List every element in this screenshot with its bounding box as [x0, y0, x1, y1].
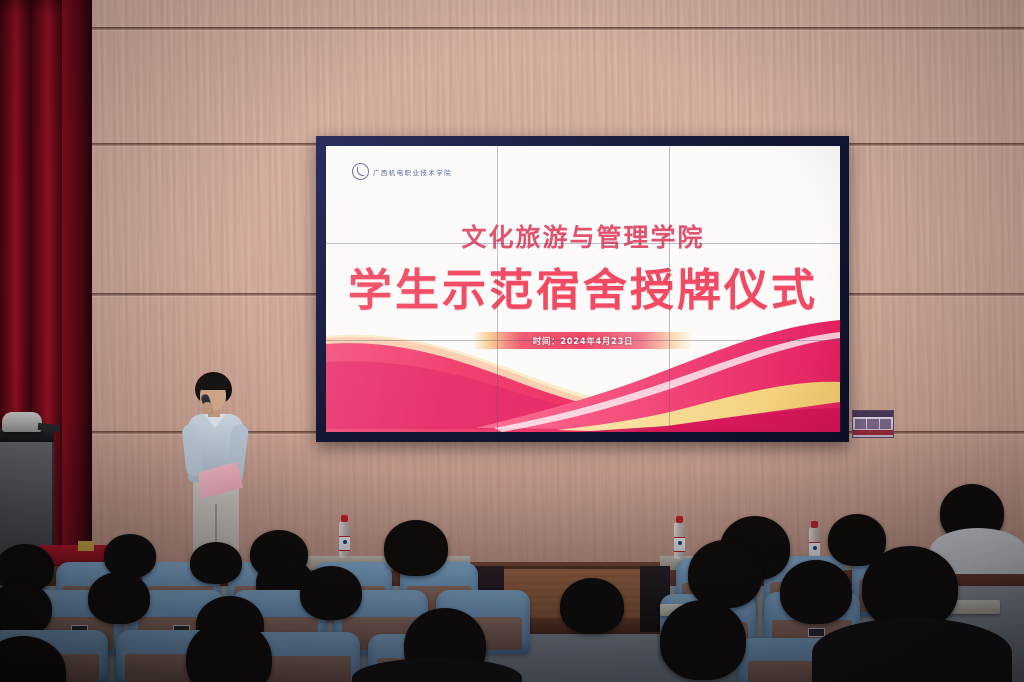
audience-seating: [0, 0, 1024, 682]
audience-head: [560, 578, 624, 634]
audience-head: [688, 540, 762, 608]
audience-head: [384, 520, 448, 576]
audience-shoulders: [812, 618, 1012, 682]
audience-head: [190, 542, 242, 584]
audience-head: [780, 560, 852, 624]
audience-head: [88, 572, 150, 624]
audience-head: [104, 534, 156, 578]
auditorium-scene: 广西机电职业技术学院 文化旅游与管理学院 学生示范宿舍授牌仪式 时间：2024年…: [0, 0, 1024, 682]
audience-head: [660, 600, 746, 680]
audience-head: [300, 566, 362, 620]
